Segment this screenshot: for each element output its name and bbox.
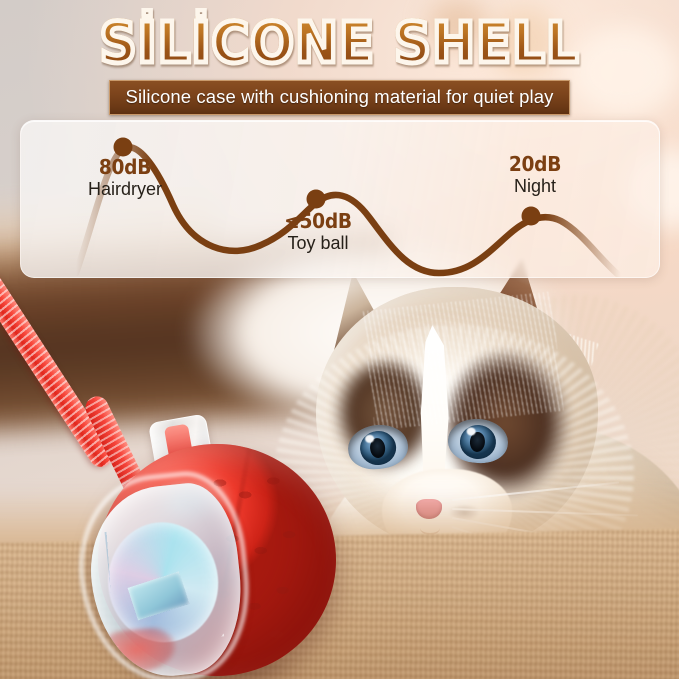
chart-point-name: Night: [475, 176, 595, 198]
subtitle-block: Silicone case with cushioning material f…: [0, 80, 679, 115]
product-infographic: SİLİCONE SHELL Silicone case with cushio…: [0, 0, 679, 679]
noise-data-dot: [522, 207, 541, 226]
chart-point-name: Toy ball: [258, 233, 378, 255]
noise-data-dot: [114, 138, 133, 157]
noise-comparison-panel: 80dB Hairdryer ≤50dB Toy ball 20dB Night: [20, 120, 660, 278]
chart-point-name: Hairdryer: [65, 179, 185, 201]
cat-toy-ball: [0, 236, 360, 679]
chart-point-value: 20dB: [479, 154, 591, 175]
chart-point-value: 80dB: [69, 157, 181, 178]
subtitle-bar: Silicone case with cushioning material f…: [109, 80, 571, 115]
cat-forehead-fur: [362, 291, 564, 430]
title-block: SİLİCONE SHELL: [0, 0, 679, 76]
chart-point-label-toyball: ≤50dB Toy ball: [258, 211, 378, 255]
chart-point-label-night: 20dB Night: [475, 154, 595, 198]
noise-data-dot: [307, 190, 326, 209]
chart-point-label-hairdryer: 80dB Hairdryer: [65, 157, 185, 201]
page-title: SİLİCONE SHELL: [27, 16, 652, 72]
chart-point-value: ≤50dB: [262, 211, 374, 232]
